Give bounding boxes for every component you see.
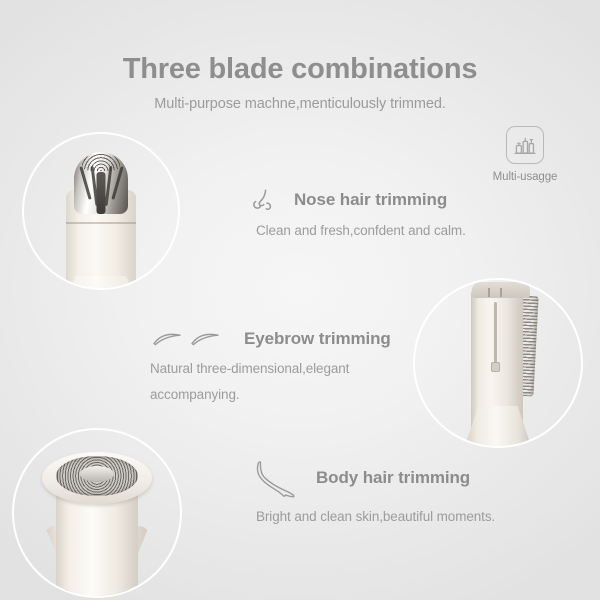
multi-usage-badge: Multi-usagge <box>479 126 571 183</box>
feature-body-header: Body hair trimming <box>256 456 495 500</box>
eyebrow-trimmer-illustration <box>415 280 581 446</box>
body-shaver-illustration <box>14 430 180 596</box>
feature-nose-title: Nose hair trimming <box>294 190 447 210</box>
nose-trimmer-seam <box>66 222 136 224</box>
leg-icon <box>256 456 302 500</box>
header: Three blade combinations Multi-purpose m… <box>0 52 600 113</box>
body-shaver-hub <box>80 466 114 482</box>
feature-eyebrow-title: Eyebrow trimming <box>244 329 391 349</box>
nose-trimmer-slot <box>79 166 91 200</box>
feature-nose-description: Clean and fresh,confdent and calm. <box>256 218 466 244</box>
feature-eyebrow-description: Natural three-dimensional,elegant accomp… <box>150 356 391 408</box>
nose-trimmer-slot <box>105 166 113 206</box>
multi-usage-icon-box <box>506 126 544 164</box>
feature-eyebrow-trimming: Eyebrow trimming Natural three-dimension… <box>152 328 391 408</box>
eyebrow-trimmer-slider-track <box>494 302 497 368</box>
feature-nose-hair-trimming: Nose hair trimming Clean and fresh,confd… <box>252 188 466 244</box>
nose-trimmer-slot <box>111 166 123 200</box>
nose-trimmer-blade-dome <box>74 152 128 214</box>
nose-trimmer-photo <box>22 132 180 290</box>
eyebrow-trimmer-cap <box>472 282 530 298</box>
feature-body-title: Body hair trimming <box>316 468 470 488</box>
nose-trimmer-center-post <box>97 172 106 214</box>
feature-nose-header: Nose hair trimming <box>252 188 466 212</box>
nose-trimmer-base <box>49 276 153 288</box>
feature-body-description: Bright and clean skin,beautiful moments. <box>256 504 495 530</box>
feature-body-hair-trimming: Body hair trimming Bright and clean skin… <box>256 456 495 530</box>
eyebrow-trimmer-slider-knob <box>491 362 500 372</box>
nose-trimmer-grill <box>82 154 120 171</box>
multi-usage-icon <box>514 135 536 155</box>
feature-eyebrow-header: Eyebrow trimming <box>152 328 391 350</box>
product-infographic: Three blade combinations Multi-purpose m… <box>0 0 600 600</box>
eyebrow-trimmer-tick <box>488 288 490 297</box>
eyebrow-trimmer-photo <box>413 278 583 448</box>
page-title: Three blade combinations <box>0 52 600 86</box>
nose-icon <box>252 188 282 212</box>
eyebrow-icon <box>152 328 226 350</box>
nose-trimmer-illustration <box>24 134 178 288</box>
multi-usage-label: Multi-usagge <box>479 171 571 183</box>
page-subtitle: Multi-purpose machne,menticulously trimm… <box>0 95 600 113</box>
eyebrow-trimmer-tick <box>500 288 502 297</box>
body-shaver-photo <box>12 428 182 598</box>
